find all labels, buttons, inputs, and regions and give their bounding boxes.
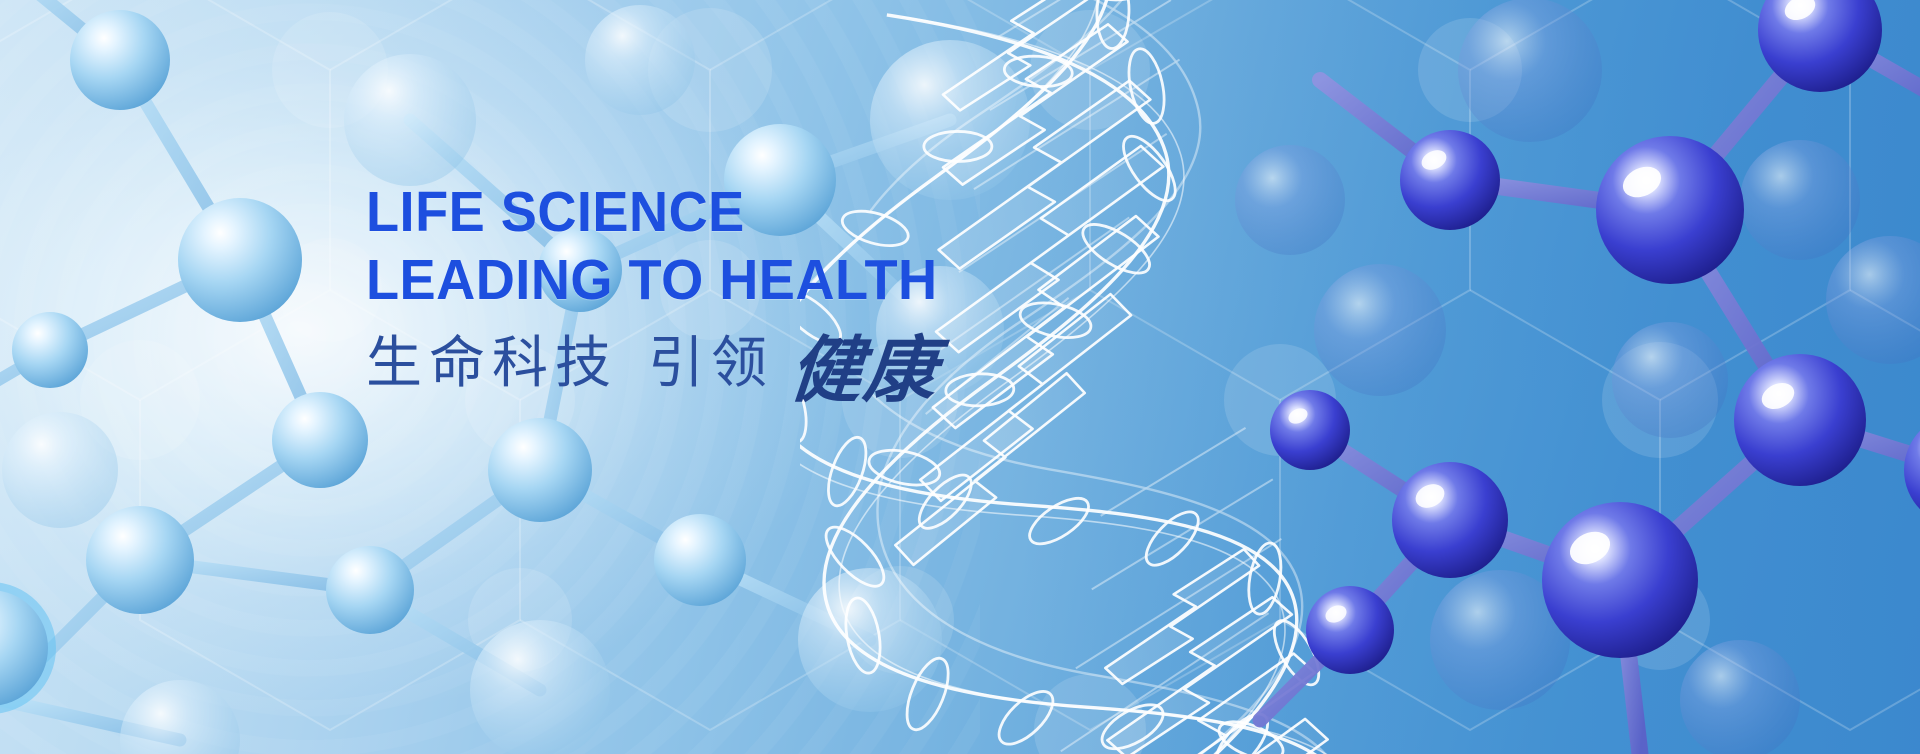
molecule-cluster-right	[1200, 0, 1920, 754]
headline-cn-part-2: 引领	[648, 332, 774, 396]
headline-block: LIFE SCIENCE LEADING TO HEALTH 生命科技 引领 健…	[366, 178, 968, 396]
headline-en-line-1: LIFE SCIENCE	[366, 178, 938, 246]
life-science-banner: LIFE SCIENCE LEADING TO HEALTH 生命科技 引领 健…	[0, 0, 1920, 754]
headline-cn-row: 生命科技 引领 健康	[366, 332, 968, 396]
headline-cn-brush-health: 健康	[787, 338, 941, 402]
headline-en-line-2: LEADING TO HEALTH	[366, 246, 938, 314]
headline-cn-part-1: 生命科技	[366, 332, 618, 396]
